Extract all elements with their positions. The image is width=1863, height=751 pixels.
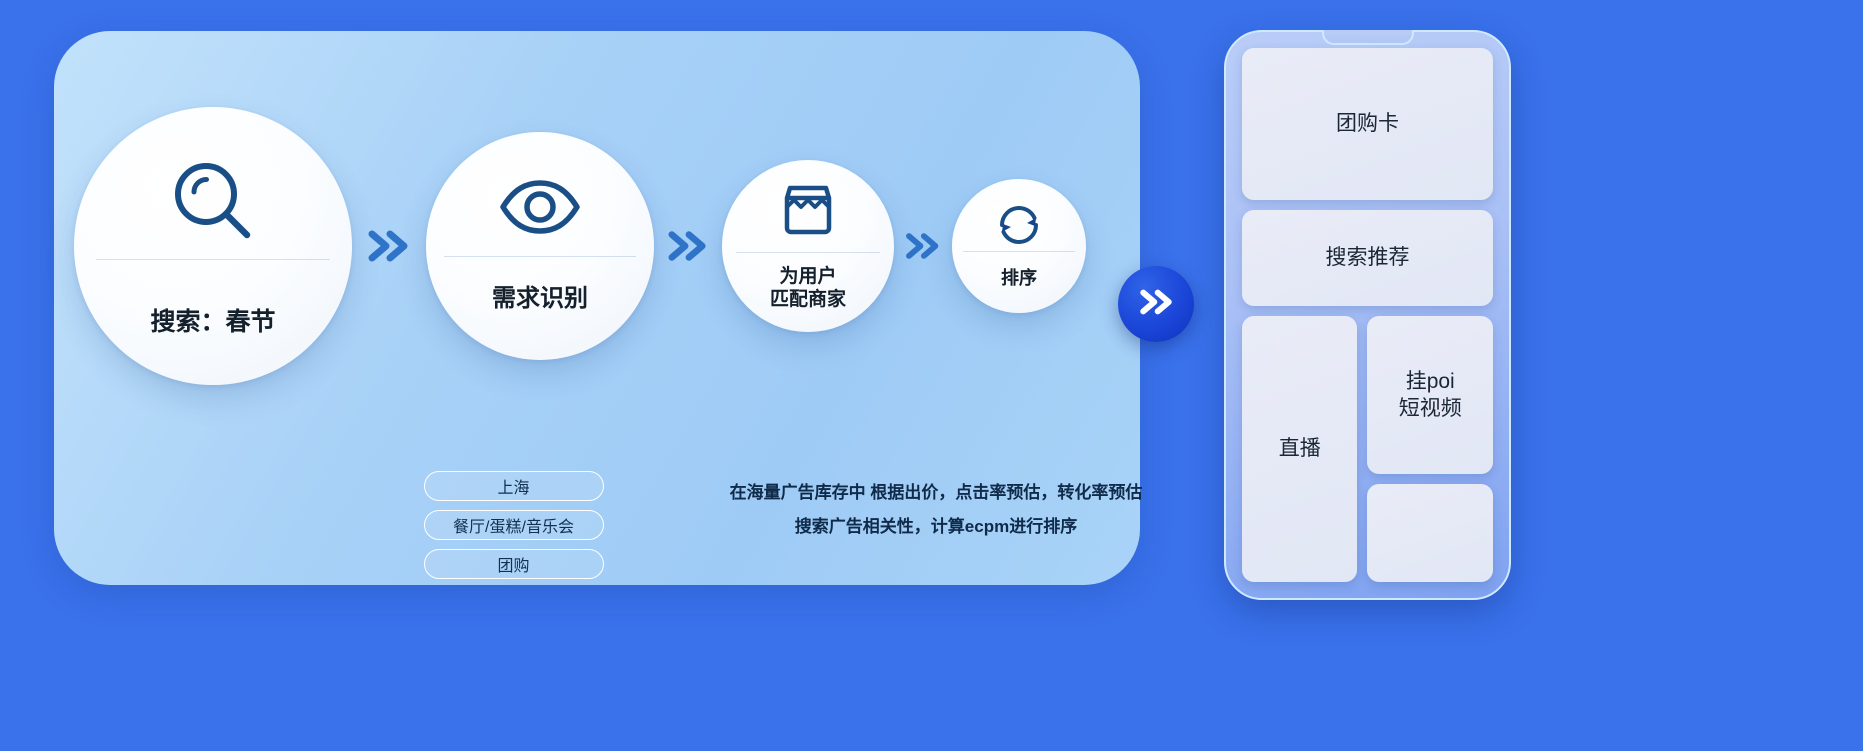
magnifier-icon [167, 155, 259, 247]
phone-mockup: 团购卡 搜索推荐 直播 挂poi 短视频 [1224, 30, 1511, 600]
sync-icon [996, 202, 1042, 248]
chevron-double-right-icon [1136, 285, 1176, 324]
intent-tag[interactable]: 上海 [424, 471, 604, 501]
chevron-double-right-icon [894, 229, 952, 263]
step-divider [444, 256, 636, 257]
result-card-groupbuy[interactable]: 团购卡 [1242, 48, 1493, 200]
ranking-description: 在海量广告库存中 根据出价，点击率预估，转化率预估 搜索广告相关性，计算ecpm… [726, 476, 1146, 543]
result-card-live[interactable]: 直播 [1242, 316, 1357, 582]
intent-tag[interactable]: 团购 [424, 549, 604, 579]
phone-screen: 团购卡 搜索推荐 直播 挂poi 短视频 [1242, 48, 1493, 582]
shop-icon [779, 181, 837, 239]
flow-step-search[interactable]: 搜索：春节 [74, 107, 352, 385]
flow-step-label: 排序 [1001, 268, 1037, 290]
intent-tag[interactable]: 餐厅/蛋糕/音乐会 [424, 510, 604, 540]
phone-notch [1322, 30, 1414, 45]
flow-step-label: 为用户 匹配商家 [770, 265, 846, 311]
phone-bottom-row: 直播 挂poi 短视频 [1242, 316, 1493, 582]
flow-step-label: 搜索：春节 [150, 307, 275, 338]
advance-to-results-button[interactable] [1118, 266, 1194, 342]
flow-step-label: 需求识别 [492, 284, 588, 313]
flow-steps-row: 搜索：春节 需求识别 [54, 31, 1140, 461]
step-divider [96, 259, 330, 260]
step-divider [736, 252, 881, 253]
chevron-double-right-icon [352, 226, 426, 266]
eye-icon [498, 178, 582, 236]
flow-step-intent[interactable]: 需求识别 [426, 132, 654, 360]
result-card-search-recommendation[interactable]: 搜索推荐 [1242, 210, 1493, 306]
phone-right-column: 挂poi 短视频 [1367, 316, 1493, 582]
chevron-double-right-icon [654, 227, 722, 265]
flow-step-match[interactable]: 为用户 匹配商家 [722, 160, 894, 332]
result-card-placeholder[interactable] [1367, 484, 1493, 582]
result-card-poi-shortvideo[interactable]: 挂poi 短视频 [1367, 316, 1493, 474]
step-divider [963, 251, 1076, 252]
flow-panel: 搜索：春节 需求识别 [54, 31, 1140, 585]
flow-step-ranking[interactable]: 排序 [952, 179, 1086, 313]
